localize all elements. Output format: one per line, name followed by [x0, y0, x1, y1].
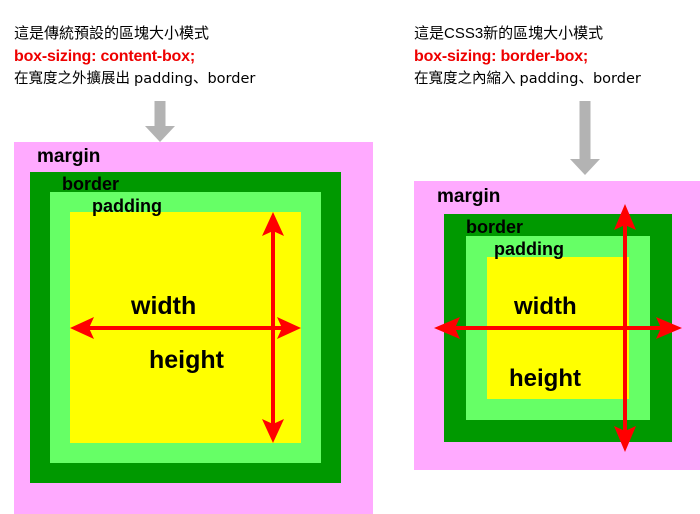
width-measure-label: width	[131, 292, 196, 321]
caption-code-line: box-sizing: content-box;	[14, 45, 255, 68]
caption-line-1: 這是CSS3新的區塊大小模式	[414, 22, 641, 45]
content-box-caption: 這是傳統預設的區塊大小模式 box-sizing: content-box; 在…	[14, 22, 255, 91]
caption-code-line: box-sizing: border-box;	[414, 45, 641, 68]
arrow-head	[145, 126, 175, 142]
caption-line-3: 在寬度之內縮入 padding、border	[414, 68, 641, 91]
content-box-panel: 這是傳統預設的區塊大小模式 box-sizing: content-box; 在…	[0, 0, 400, 514]
caption-line-3-tail: padding、border	[134, 71, 255, 87]
border-box-diagram: margin border padding width height	[414, 181, 700, 470]
padding-label: padding	[92, 196, 162, 217]
content-box-diagram: margin border padding width height	[14, 142, 373, 514]
height-measure-arrow	[614, 204, 636, 452]
margin-label: margin	[437, 186, 500, 208]
caption-line-3: 在寬度之外擴展出 padding、border	[14, 68, 255, 91]
height-measure-label: height	[149, 346, 224, 375]
caption-line-3-head: 在寬度之內縮入	[414, 71, 516, 87]
height-arrow-svg	[614, 204, 636, 452]
caption-line-3-head: 在寬度之外擴展出	[14, 71, 130, 87]
border-label: border	[62, 174, 119, 195]
border-label: border	[466, 217, 523, 238]
arrow-head	[570, 159, 600, 175]
height-arrow-svg	[262, 212, 284, 443]
height-measure-arrow	[262, 212, 284, 443]
padding-label: padding	[494, 239, 564, 260]
arrow-shaft	[155, 101, 166, 128]
margin-label: margin	[37, 146, 100, 168]
caption-line-1: 這是傳統預設的區塊大小模式	[14, 22, 255, 45]
border-box-panel: 這是CSS3新的區塊大小模式 box-sizing: border-box; 在…	[400, 0, 700, 514]
down-arrow-icon	[565, 101, 605, 175]
caption-line-3-tail: padding、border	[520, 71, 641, 87]
height-measure-label: height	[509, 365, 581, 393]
down-arrow-icon	[140, 101, 180, 142]
border-box-caption: 這是CSS3新的區塊大小模式 box-sizing: border-box; 在…	[414, 22, 641, 91]
width-measure-label: width	[514, 293, 577, 321]
arrow-shaft	[580, 101, 591, 161]
